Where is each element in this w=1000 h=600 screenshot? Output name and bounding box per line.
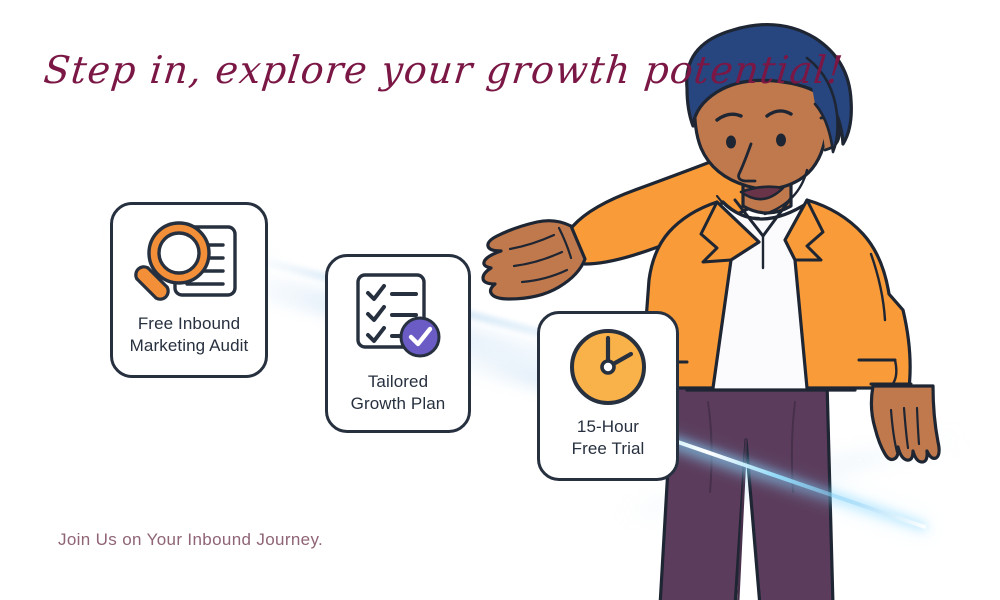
page-title: Step in, explore your growth potential! — [42, 48, 846, 92]
shirt — [687, 202, 855, 390]
eye-left — [726, 136, 736, 149]
light-streak — [237, 268, 786, 433]
benefit-card-audit[interactable]: Free Inbound Marketing Audit — [110, 202, 268, 378]
card-label-line2: Free Trial — [572, 439, 645, 458]
card-label-line2: Marketing Audit — [130, 336, 249, 355]
benefit-card-trial[interactable]: 15-Hour Free Trial — [537, 311, 679, 481]
extended-sleeve — [567, 154, 765, 264]
card-label: Free Inbound Marketing Audit — [124, 313, 255, 357]
man-gesturing-illustration — [455, 10, 1000, 600]
card-label: 15-Hour Free Trial — [566, 416, 651, 460]
left-hand — [871, 386, 939, 462]
mouth — [741, 187, 783, 199]
card-label: Tailored Growth Plan — [345, 371, 452, 415]
card-label-line2: Growth Plan — [351, 394, 446, 413]
jacket-right — [785, 200, 910, 388]
card-label-line1: Free Inbound — [138, 314, 240, 333]
benefit-card-plan[interactable]: Tailored Growth Plan — [325, 254, 471, 433]
eye-right — [776, 134, 786, 147]
magnifier-document-icon — [131, 217, 247, 305]
open-hand — [483, 221, 585, 299]
card-label-line1: 15-Hour — [577, 417, 639, 436]
card-label-line1: Tailored — [368, 372, 428, 391]
trousers — [660, 382, 833, 600]
checklist-verified-icon — [350, 269, 446, 361]
promo-banner: Step in, explore your growth potential! — [0, 0, 1000, 600]
nose — [739, 144, 755, 181]
footer-tagline: Join Us on Your Inbound Journey. — [58, 530, 323, 550]
clock-icon — [567, 326, 649, 408]
